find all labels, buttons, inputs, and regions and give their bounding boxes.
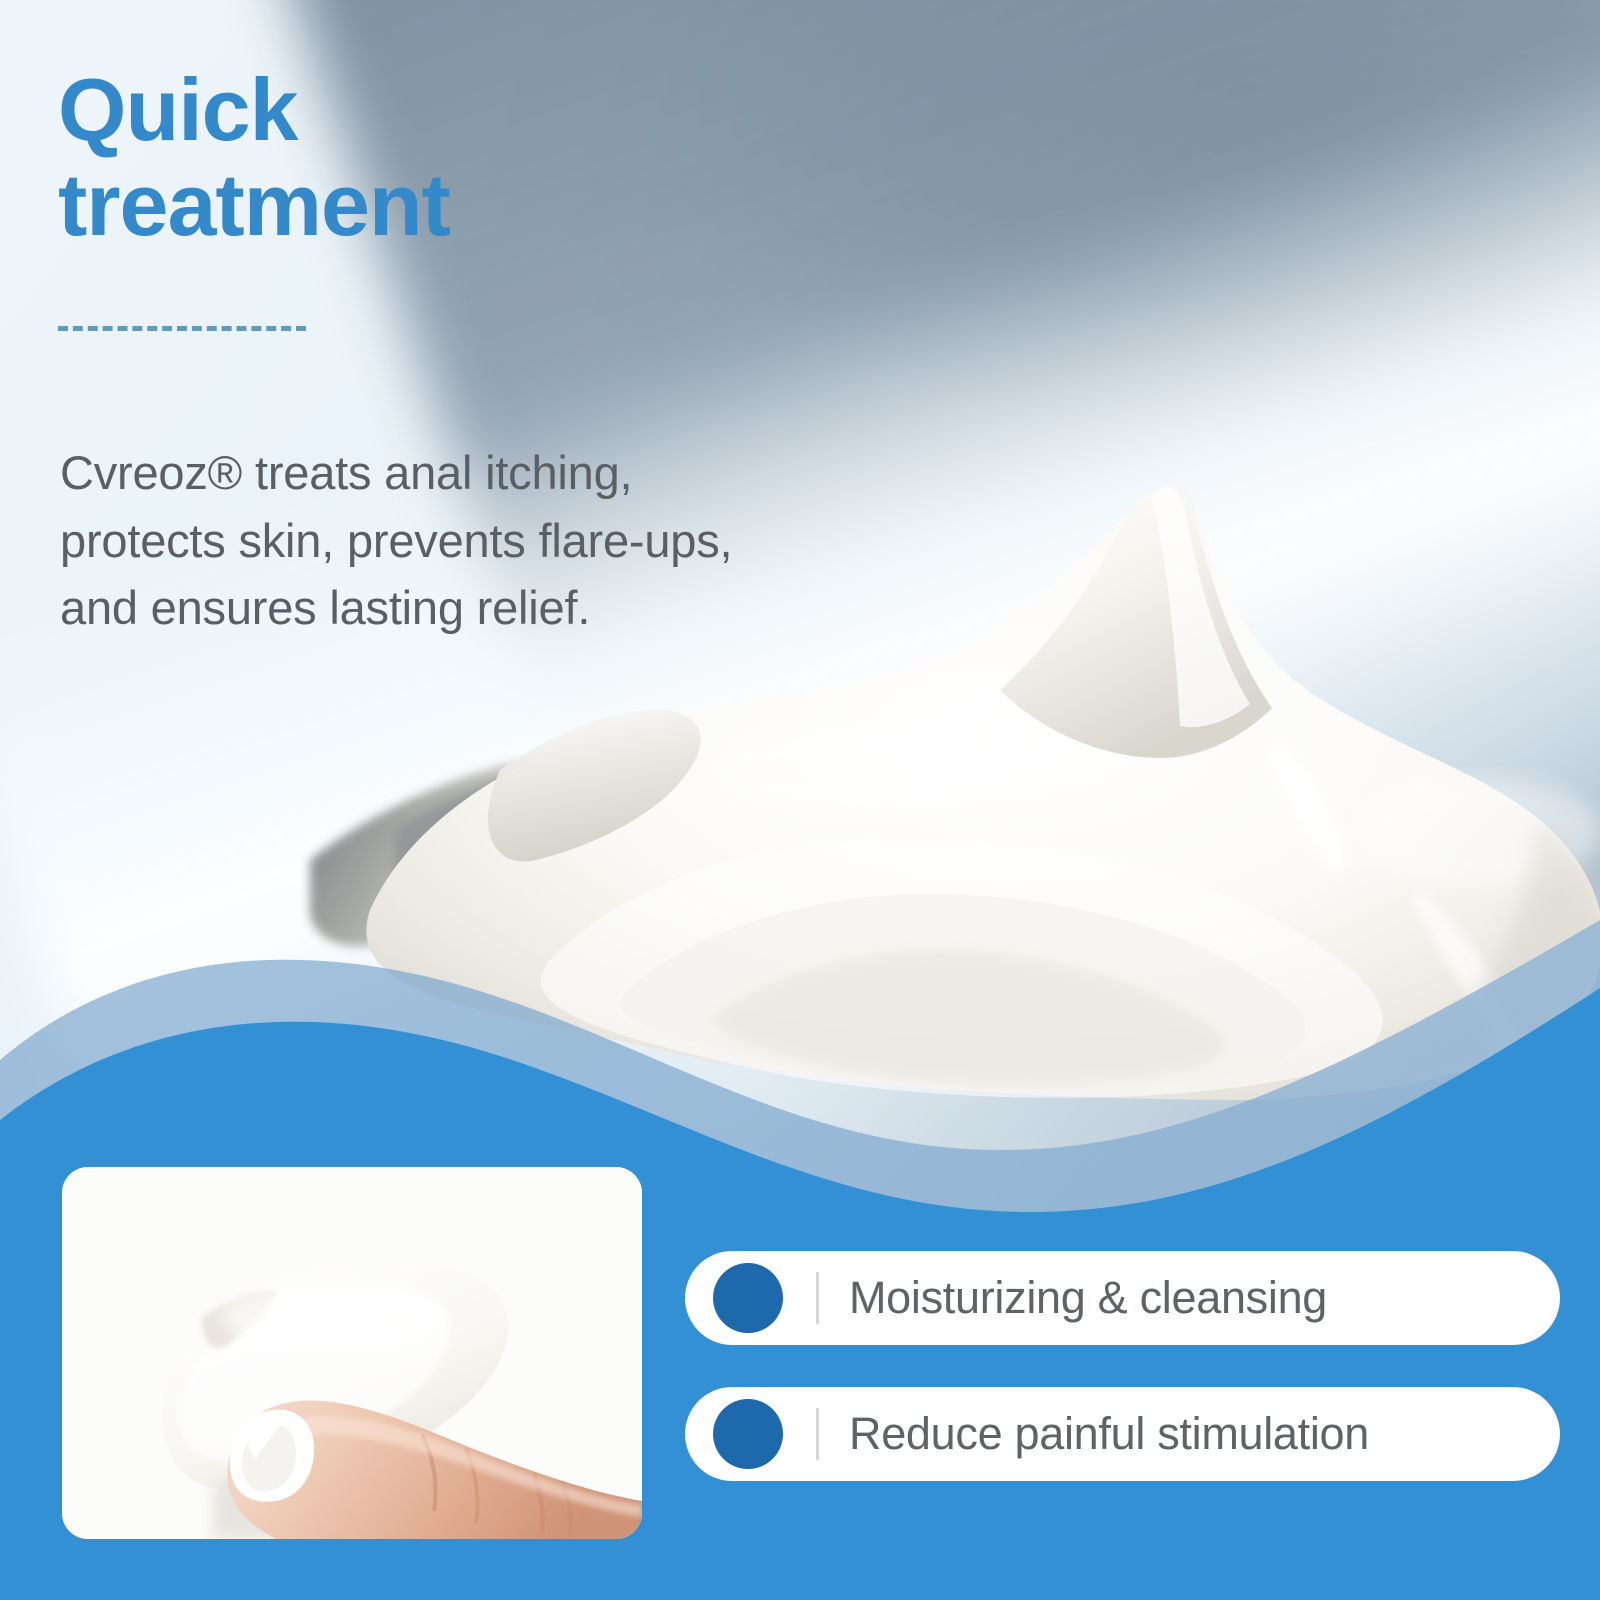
headline-line-1: Quick	[58, 62, 778, 157]
divider-icon	[816, 1408, 819, 1460]
dashed-divider	[58, 326, 306, 331]
feature-list: Moisturizing & cleansing Reduce painful …	[685, 1251, 1560, 1481]
feature-pill-reduce-pain[interactable]: Reduce painful stimulation	[685, 1387, 1560, 1481]
feature-label: Moisturizing & cleansing	[849, 1272, 1327, 1324]
description-text: Cvreoz® treats anal itching, protects sk…	[60, 439, 760, 642]
feature-pill-moisturizing[interactable]: Moisturizing & cleansing	[685, 1251, 1560, 1345]
product-feature-poster: Quick treatment Cvreoz® treats anal itch…	[0, 0, 1600, 1600]
headline-line-2: treatment	[58, 157, 778, 252]
bullet-dot-icon	[713, 1263, 783, 1333]
feature-label: Reduce painful stimulation	[849, 1408, 1369, 1460]
divider-icon	[816, 1272, 819, 1324]
bullet-dot-icon	[713, 1399, 783, 1469]
page-title: Quick treatment	[58, 62, 778, 252]
fingertip-photo-card	[62, 1167, 642, 1539]
